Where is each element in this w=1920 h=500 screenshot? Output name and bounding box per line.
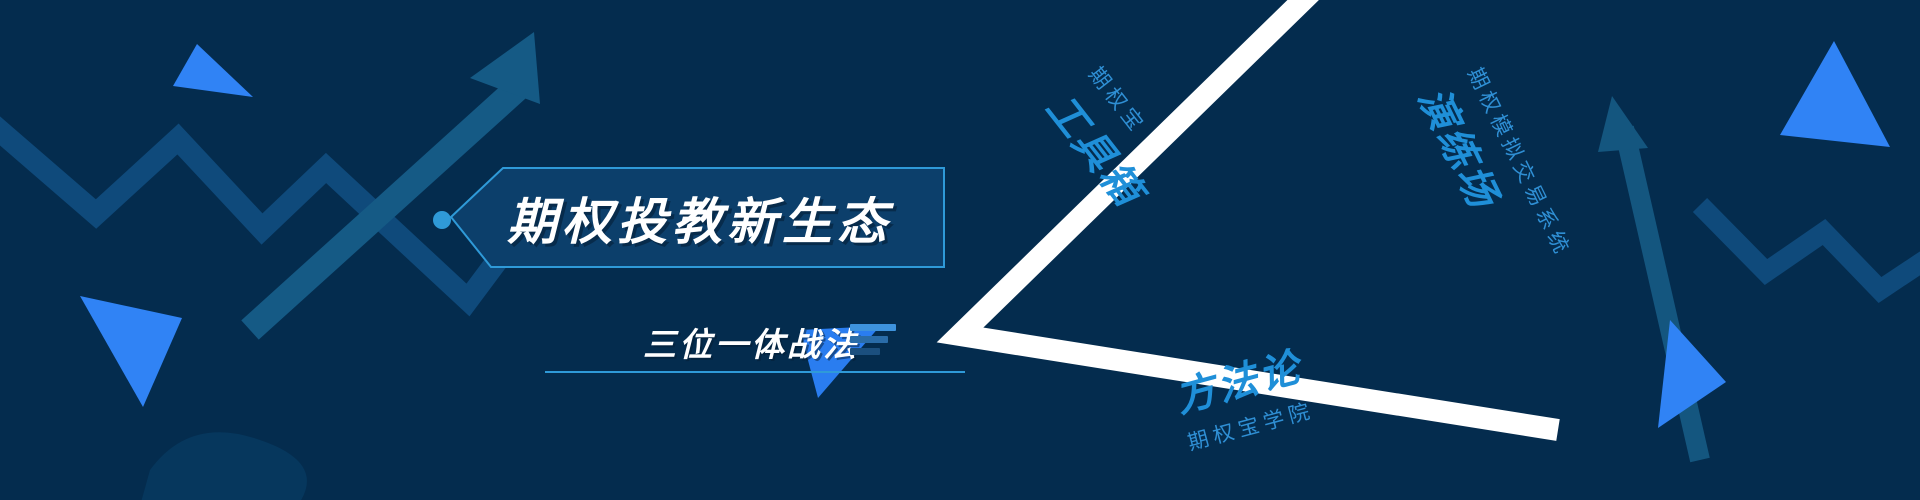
banner-background [0,0,1920,500]
subtitle-bars-icon [850,324,896,360]
subtitle-underline [545,370,965,374]
subtitle-bar-1 [850,324,896,331]
subtitle-bar-3 [850,348,880,355]
page-title: 期权投教新生态 [507,182,892,254]
promo-banner: 期权投教新生态 三位一体战法 期权宝 工具箱 期权模拟交易系统 演练场 方法论 … [0,0,1920,500]
title-plaque: 期权投教新生态 [447,165,947,270]
subtitle-text: 三位一体战法 [643,318,859,366]
subtitle-group: 三位一体战法 [545,318,965,374]
title-bullet-dot [430,208,460,238]
background-decoration [0,0,1920,500]
subtitle-bar-2 [850,336,888,343]
